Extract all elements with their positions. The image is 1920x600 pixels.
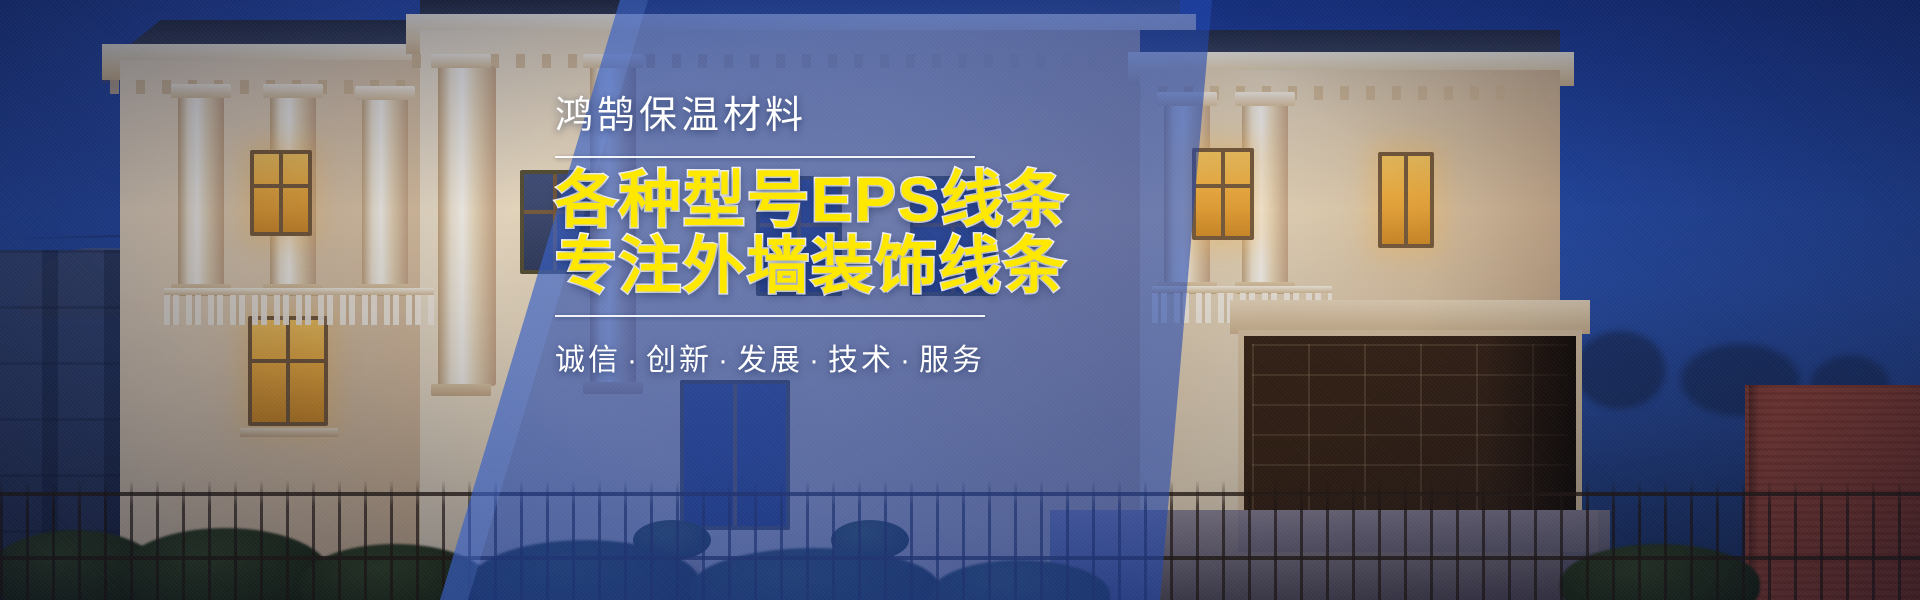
promo-banner: 鸿鹄保温材料 各种型号EPS线条 专注外墙装饰线条 诚信·创新·发展·技术·服务 [0,0,1920,600]
headline-line-1: 各种型号EPS线条 [555,166,1069,235]
headline: 各种型号EPS线条 专注外墙装饰线条 [555,168,1255,299]
banner-text-block: 鸿鹄保温材料 各种型号EPS线条 专注外墙装饰线条 诚信·创新·发展·技术·服务 [555,96,1255,379]
tagline-separator: · [900,344,913,377]
tagline-item-1: 诚信 [555,344,621,377]
divider-top [555,156,975,158]
tagline-item-3: 发展 [737,344,803,377]
tagline-separator: · [627,344,640,377]
tagline-separator: · [718,344,731,377]
headline-line-2: 专注外墙装饰线条 [555,234,1255,300]
tagline-item-2: 创新 [646,344,712,377]
tagline: 诚信·创新·发展·技术·服务 [555,335,1255,379]
tagline-item-4: 技术 [828,344,894,377]
divider-bottom [555,315,985,317]
company-name: 鸿鹄保温材料 [555,96,1255,138]
tagline-item-5: 服务 [919,344,985,377]
tagline-separator: · [809,344,822,377]
